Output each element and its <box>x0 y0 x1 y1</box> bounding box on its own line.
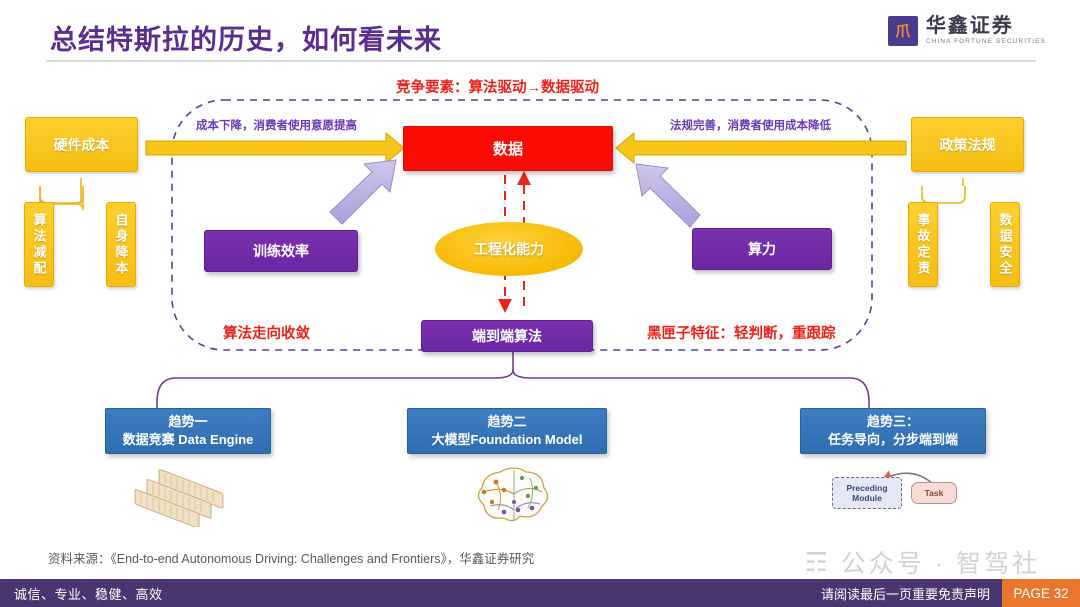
regulation-label: 法规完善，消费者使用成本降低 <box>670 117 831 133</box>
data-box[interactable]: 数据 <box>403 126 613 171</box>
cost-down-label: 成本下降，消费者使用意愿提高 <box>196 117 357 133</box>
engineering-capability-ellipse[interactable]: 工程化能力 <box>435 222 583 276</box>
compute-power-box[interactable]: 算力 <box>692 228 832 270</box>
preceding-module-box: Preceding Module <box>832 477 902 509</box>
accident-liability-box[interactable]: 事故定责 <box>908 202 938 287</box>
self-cost-reduction-box[interactable]: 自身降本 <box>106 202 136 287</box>
training-efficiency-box[interactable]: 训练效率 <box>204 230 358 272</box>
logo-name-en: CHINA FORTUNE SECURITIES <box>926 39 1046 46</box>
trend-2-box[interactable]: 趋势二 大模型Foundation Model <box>407 408 607 454</box>
algorithm-downgrade-box[interactable]: 算法减配 <box>24 202 54 287</box>
trend-2-line2: 大模型Foundation Model <box>432 431 583 449</box>
algorithm-convergence-label: 算法走向收敛 <box>223 322 310 343</box>
trend-3-box[interactable]: 趋势三： 任务导向，分步端到端 <box>800 408 986 454</box>
page-title: 总结特斯拉的历史，如何看未来 <box>50 18 442 57</box>
watermark-text: 公众号 · 智驾社 <box>841 544 1040 580</box>
trend-3-line2: 任务导向，分步端到端 <box>828 431 958 449</box>
source-note: 资料来源：《End-to-end Autonomous Driving: Cha… <box>48 548 534 567</box>
trend-1-box[interactable]: 趋势一 数据竞赛 Data Engine <box>105 408 271 454</box>
trend-2-line1: 趋势二 <box>487 413 526 431</box>
server-rack-icon <box>133 465 243 527</box>
footer-disclaimer: 请阅读最后一页重要免责声明 <box>821 584 990 603</box>
competition-factor-label: 竞争要素：算法驱动→数据驱动 <box>396 76 599 97</box>
slide-canvas: 总结特斯拉的历史，如何看未来 爪 华鑫证券 CHINA FORTUNE SECU… <box>0 0 1080 607</box>
footer-bar: 诚信、专业、稳健、高效 请阅读最后一页重要免责声明 PAGE 32 <box>0 579 1080 607</box>
logo-name-cn: 华鑫证券 <box>926 16 1046 37</box>
logo-text: 华鑫证券 CHINA FORTUNE SECURITIES <box>926 16 1046 46</box>
brain-network-icon <box>470 462 560 528</box>
blackbox-feature-label: 黑匣子特征：轻判断，重跟踪 <box>647 322 836 343</box>
task-label: Task <box>925 488 944 498</box>
trend-1-line2: 数据竞赛 Data Engine <box>123 431 254 449</box>
footer-slogan: 诚信、专业、稳健、高效 <box>14 584 163 603</box>
company-logo: 爪 华鑫证券 CHINA FORTUNE SECURITIES <box>888 16 1046 46</box>
page-number-badge: PAGE 32 <box>1002 579 1080 607</box>
task-box: Task <box>911 482 957 504</box>
hardware-cost-box[interactable]: 硬件成本 <box>25 117 138 172</box>
data-security-box[interactable]: 数据安全 <box>990 202 1020 287</box>
trend-1-line1: 趋势一 <box>168 413 207 431</box>
policy-regulation-box[interactable]: 政策法规 <box>911 117 1024 172</box>
header-divider <box>46 60 1036 62</box>
watermark: ☶ 公众号 · 智驾社 <box>804 544 1040 580</box>
end-to-end-algorithm-box[interactable]: 端到端算法 <box>421 320 593 352</box>
wechat-icon: ☶ <box>804 549 830 575</box>
trend-3-line1: 趋势三： <box>867 413 919 431</box>
logo-mark-icon: 爪 <box>888 16 918 46</box>
preceding-module-label: Preceding Module <box>833 483 901 503</box>
